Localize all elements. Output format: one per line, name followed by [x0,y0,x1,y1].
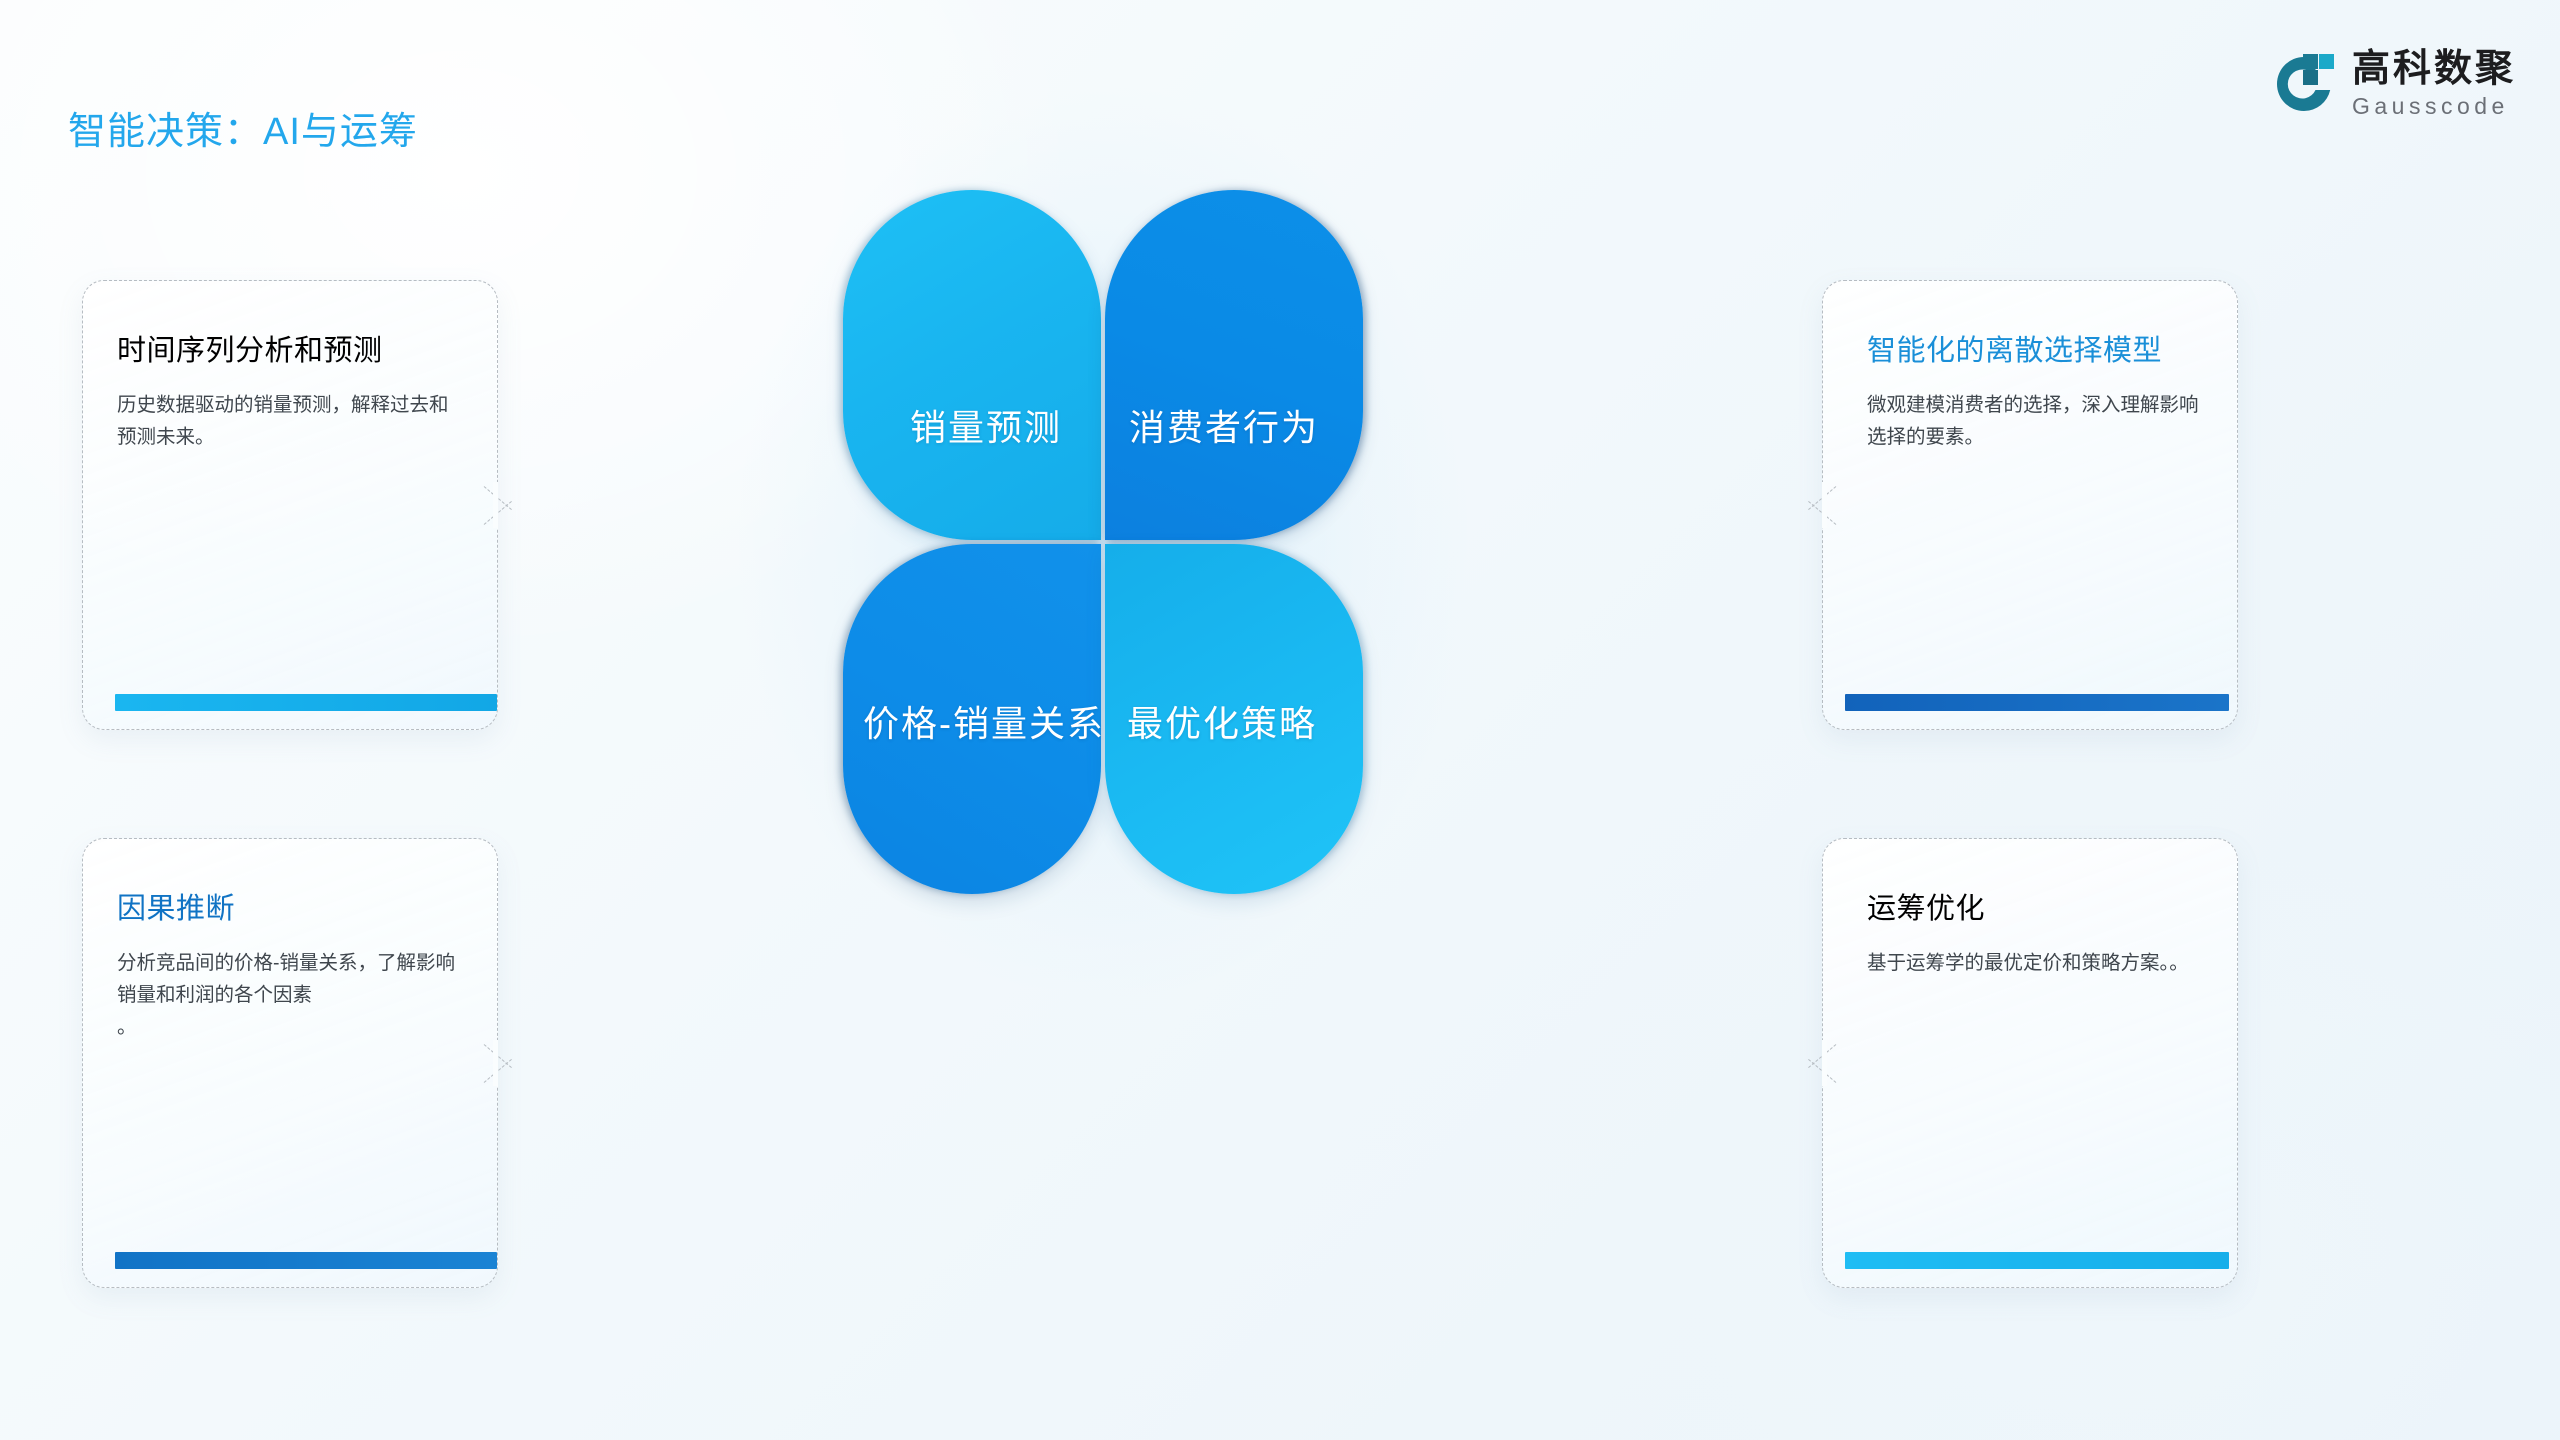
card-discrete-choice[interactable]: 智能化的离散选择模型 微观建模消费者的选择，深入理解影响选择的要素。 [1822,280,2238,730]
chevron-right-icon [484,481,514,529]
chevron-left-icon [1806,1039,1836,1087]
card-title: 运筹优化 [1867,885,2201,927]
notch-cover [1822,1040,1827,1086]
petal-label: 价格-销量关系 [863,695,1105,751]
card-body: 历史数据驱动的销量预测，解释过去和预测未来。 [117,389,461,453]
page-title: 智能决策：AI与运筹 [68,100,418,155]
notch-cover [493,1040,498,1086]
card-operations-research[interactable]: 运筹优化 基于运筹学的最优定价和策略方案。。 [1822,838,2238,1288]
card-title: 因果推断 [117,885,461,927]
card-title: 智能化的离散选择模型 [1867,327,2201,369]
flower-diagram: 销量预测 消费者行为 价格-销量关系 最优化策略 [843,190,1363,894]
logo-text-en: Gausscode [2352,95,2516,118]
notch-cover [493,482,498,528]
card-accent-bar [115,694,497,711]
card-title: 时间序列分析和预测 [117,327,461,369]
card-accent-bar [115,1252,497,1269]
card-body: 微观建模消费者的选择，深入理解影响选择的要素。 [1867,389,2201,453]
petal-label: 消费者行为 [1129,399,1319,455]
petal-consumer-behavior[interactable]: 消费者行为 [1105,190,1363,540]
brand-logo: 高科数聚 Gausscode [2274,50,2516,118]
card-accent-bar [1845,1252,2229,1269]
logo-text-cn: 高科数聚 [2352,50,2516,88]
gausscode-logo-icon [2274,53,2334,115]
petal-sales-forecast[interactable]: 销量预测 [843,190,1101,540]
card-causal-inference[interactable]: 因果推断 分析竞品间的价格-销量关系，了解影响销量和利润的各个因素 。 [82,838,498,1288]
chevron-right-icon [484,1039,514,1087]
card-time-series[interactable]: 时间序列分析和预测 历史数据驱动的销量预测，解释过去和预测未来。 [82,280,498,730]
petal-label: 最优化策略 [1127,695,1317,751]
card-body: 基于运筹学的最优定价和策略方案。。 [1867,947,2201,979]
chevron-left-icon [1806,481,1836,529]
card-accent-bar [1845,694,2229,711]
petal-label: 销量预测 [910,399,1062,455]
petal-price-volume[interactable]: 价格-销量关系 [843,544,1101,894]
notch-cover [1822,482,1827,528]
card-body: 分析竞品间的价格-销量关系，了解影响销量和利润的各个因素 。 [117,947,461,1044]
petal-optimal-strategy[interactable]: 最优化策略 [1105,544,1363,894]
